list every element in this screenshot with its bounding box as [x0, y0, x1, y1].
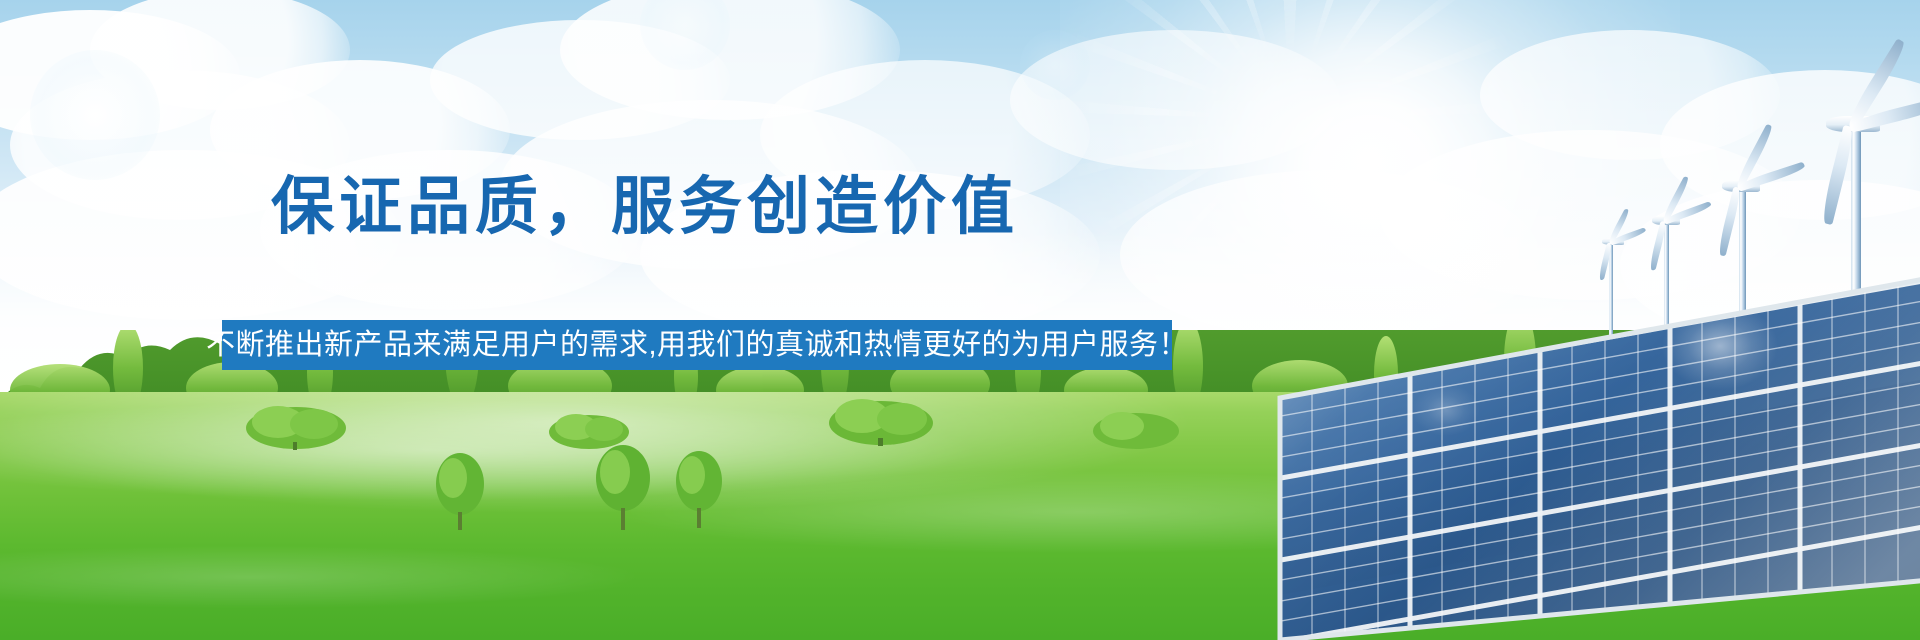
subtitle-bar: 不断推出新产品来满足用户的需求,用我们的真诚和热情更好的为用户服务！ [222, 320, 1172, 370]
page-title: 保证品质，服务创造价值 [0, 168, 1290, 246]
grass-field [0, 392, 1920, 640]
subtitle-text: 不断推出新产品来满足用户的需求,用我们的真诚和热情更好的为用户服务！ [206, 320, 1188, 370]
hero-banner: 保证品质，服务创造价值 不断推出新产品来满足用户的需求,用我们的真诚和热情更好的… [0, 0, 1920, 640]
